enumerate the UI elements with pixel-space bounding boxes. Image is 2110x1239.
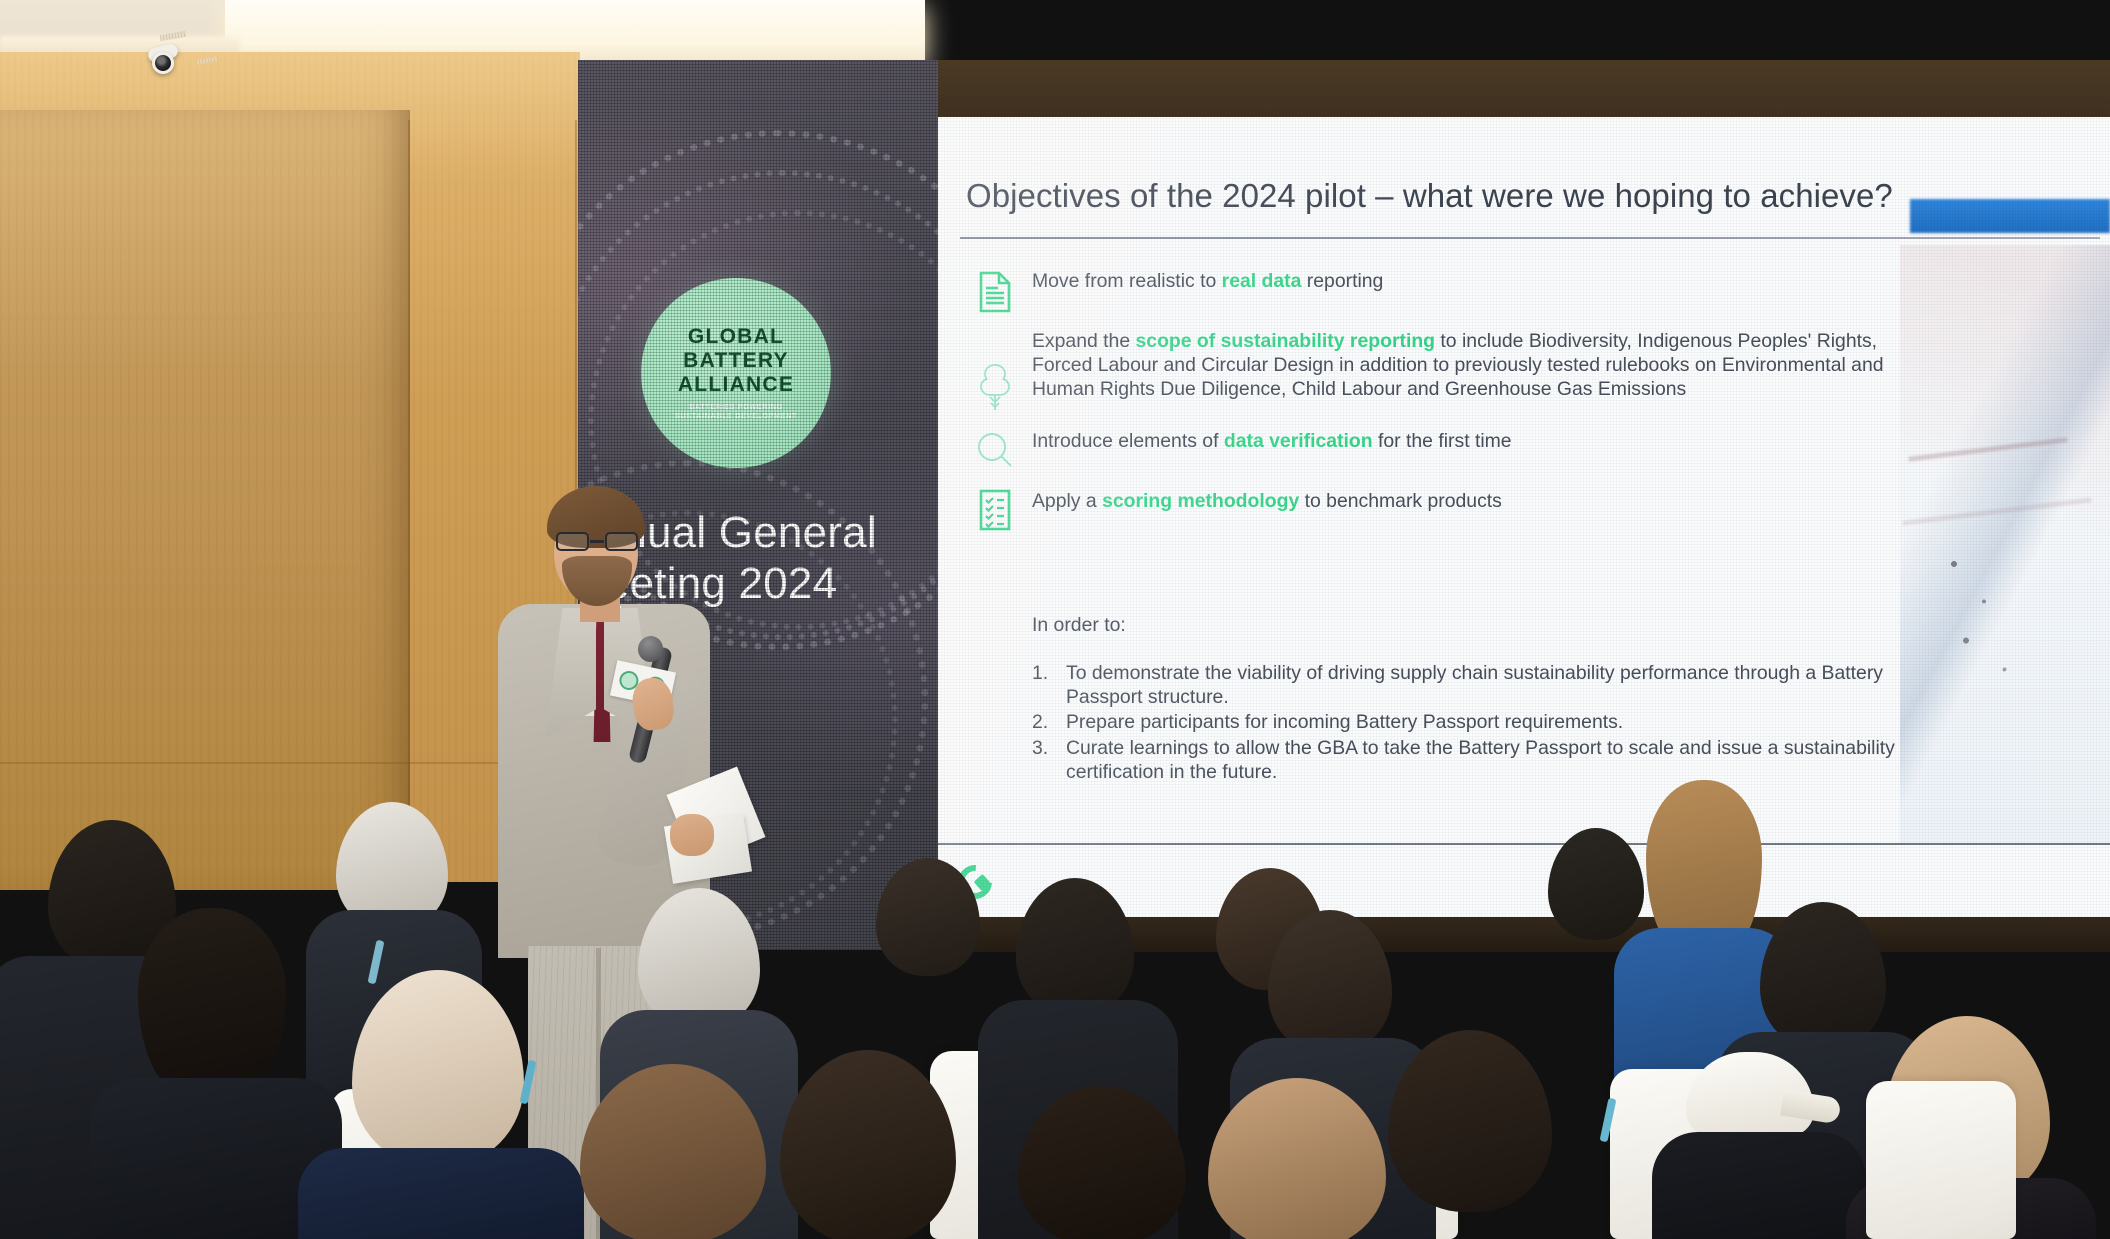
bullet-post: reporting — [1301, 270, 1383, 292]
bullet-post: for the first time — [1373, 430, 1512, 452]
slide-bullet-text: Expand the scope of sustainability repor… — [1032, 327, 1938, 401]
magnifier-icon — [958, 427, 1032, 473]
gba-logo: GLOBAL BATTERY ALLIANCE BATTERIES POWERI… — [641, 278, 831, 468]
audience-head — [1646, 780, 1762, 948]
numbered-item-number: 2. — [1032, 711, 1066, 735]
bullet-pre: Expand the — [1032, 330, 1136, 352]
audience — [0, 760, 2110, 1239]
audience-head — [1016, 878, 1134, 1016]
gba-logo-line3: ALLIANCE — [678, 373, 794, 397]
audience-head — [138, 908, 286, 1092]
gba-logo-tagline: BATTERIES POWERING SUSTAINABLE DEVELOPME… — [661, 402, 811, 421]
numbered-item-text: Prepare participants for incoming Batter… — [1066, 711, 1912, 735]
numbered-item-text: To demonstrate the viability of driving … — [1066, 662, 1912, 709]
bullet-highlight: scoring methodology — [1102, 490, 1299, 512]
audience-body — [1652, 1132, 1866, 1239]
slide-title: Objectives of the 2024 pilot – what were… — [966, 177, 1966, 215]
slide-bullet-text: Apply a scoring methodology to benchmark… — [1032, 487, 1502, 513]
audience-head — [876, 858, 980, 976]
screen-top-frame — [938, 60, 2110, 117]
slide-title-rule — [960, 237, 2100, 239]
audience-head — [1268, 910, 1392, 1054]
gba-logo-line2: BATTERY — [683, 349, 789, 373]
audience-head — [638, 888, 760, 1030]
numbered-item: 2. Prepare participants for incoming Bat… — [1032, 711, 1912, 735]
bullet-highlight: real data — [1222, 270, 1302, 292]
security-camera-lens-icon — [152, 52, 174, 74]
bullet-pre: Apply a — [1032, 490, 1102, 512]
bullet-pre: Move from realistic to — [1032, 270, 1222, 292]
audience-body — [298, 1148, 584, 1239]
tree-icon — [958, 327, 1032, 413]
slide-bullet-text: Move from realistic to real data reporti… — [1032, 267, 1383, 293]
document-icon — [958, 267, 1032, 313]
slide-decor-specks — [1930, 547, 2050, 717]
slide-bullet-list: Move from realistic to real data reporti… — [958, 267, 1938, 545]
bullet-post: to benchmark products — [1299, 490, 1502, 512]
numbered-item: 1. To demonstrate the viability of drivi… — [1032, 662, 1912, 709]
conference-presentation-photo: GLOBAL BATTERY ALLIANCE BATTERIES POWERI… — [0, 0, 2110, 1239]
numbered-item-number: 1. — [1032, 662, 1066, 709]
slide-bullet-item: Apply a scoring methodology to benchmark… — [958, 487, 1938, 531]
audience-head — [1548, 828, 1644, 940]
slide-bullet-text: Introduce elements of data verification … — [1032, 427, 1512, 453]
checklist-icon — [958, 487, 1032, 531]
bullet-pre: Introduce elements of — [1032, 430, 1224, 452]
slide-bullet-item: Introduce elements of data verification … — [958, 427, 1938, 473]
speaker-beard — [562, 556, 632, 606]
bullet-highlight: data verification — [1224, 430, 1373, 452]
in-order-to-label: In order to: — [1032, 614, 1126, 637]
speaker-glasses — [555, 532, 639, 552]
slide-bullet-item: Move from realistic to real data reporti… — [958, 267, 1938, 313]
audience-head — [1760, 902, 1886, 1050]
bullet-highlight: scope of sustainability reporting — [1136, 330, 1436, 352]
gba-logo-line1: GLOBAL — [688, 325, 784, 349]
chair — [1866, 1081, 2016, 1239]
slide-bullet-item: Expand the scope of sustainability repor… — [958, 327, 1938, 413]
